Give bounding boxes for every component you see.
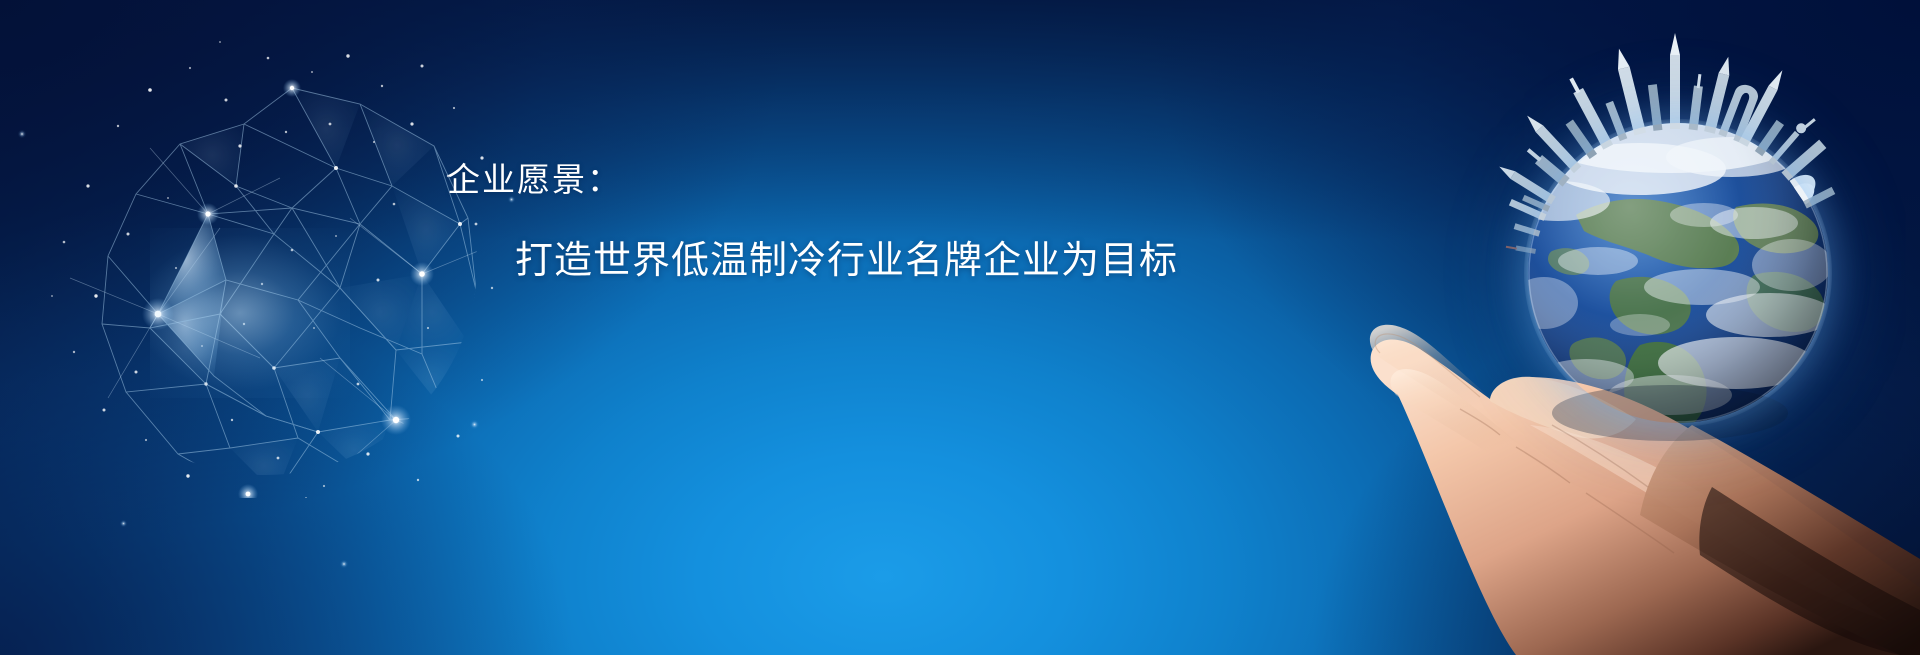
vision-statement: 打造世界低温制冷行业名牌企业为目标 <box>515 242 1178 280</box>
vision-text-block: 企业愿景： 打造世界低温制冷行业名牌企业为目标 <box>447 163 1178 280</box>
hand-holding-earth-graphic <box>1340 95 1920 655</box>
globe-contact-shadow <box>1552 385 1788 441</box>
network-sphere-graphic <box>30 28 500 498</box>
page-title: 企业愿景： <box>447 163 1178 196</box>
vision-banner: 企业愿景： 打造世界低温制冷行业名牌企业为目标 <box>0 0 1920 655</box>
